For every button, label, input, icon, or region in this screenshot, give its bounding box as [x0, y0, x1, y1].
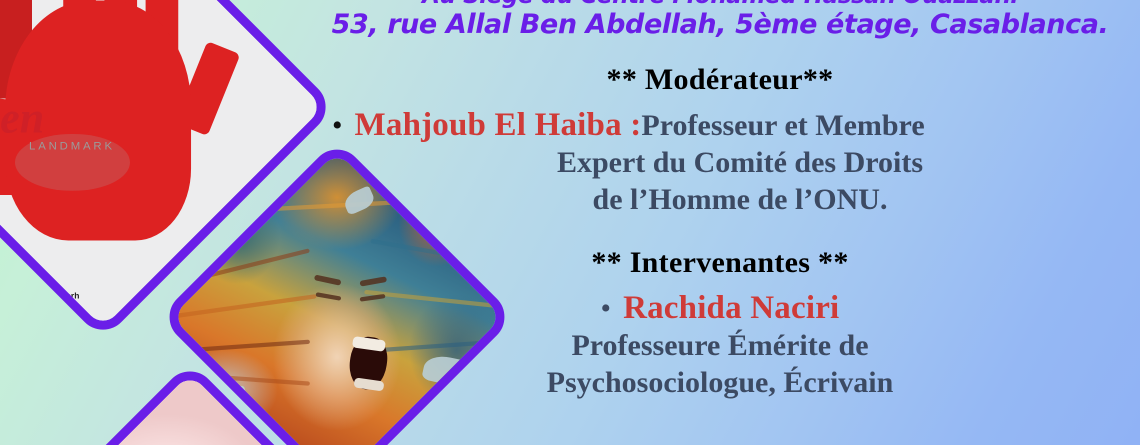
hair-strand — [184, 339, 310, 352]
poster-credit-line2: Level-II, Ph — [32, 309, 69, 316]
speaker-role-line1: Professeure Émérite de — [300, 327, 1140, 364]
moderator-role-line1: Professeur et Membre — [641, 109, 924, 143]
hair-strand — [179, 248, 309, 284]
moderator-entry: • Mahjoub El Haiba : Professeur et Membr… — [300, 107, 1140, 218]
speaker-name: Rachida Naciri — [623, 290, 839, 327]
bullet-icon: • — [601, 294, 612, 324]
hair-strand — [171, 294, 316, 319]
moderator-section-heading: ** Modérateur** — [300, 63, 1140, 97]
moderator-role-line2: Expert du Comité des Droits — [300, 144, 1140, 181]
speaker-role-line2: Psychosociologue, Écrivain — [300, 364, 1140, 401]
venue-address: 53, rue Allal Ben Abdellah, 5ème étage, … — [300, 8, 1140, 41]
speaker-entry: • Rachida Naciri Professeure Émérite de … — [300, 290, 1140, 401]
event-details-panel: Au Siège du Centre Mohamed Hassan Ouazza… — [300, 0, 1140, 445]
moderator-name: Mahjoub El Haiba : — [355, 107, 642, 144]
moderator-role-line3: de l’Homme de l’ONU. — [300, 181, 1140, 218]
venue-name: Au Siège du Centre Mohamed Hassan Ouazza… — [300, 0, 1140, 7]
poster-text-line3: Women — [0, 96, 44, 140]
speakers-section-heading: ** Intervenantes ** — [300, 246, 1140, 280]
bullet-icon: • — [332, 111, 343, 141]
moderator-name-row: • Mahjoub El Haiba : Professeur et Membr… — [300, 107, 1140, 144]
speaker-name-row: • Rachida Naciri — [300, 290, 1140, 327]
poster-credit-line1: Chandigarh — [32, 293, 79, 302]
